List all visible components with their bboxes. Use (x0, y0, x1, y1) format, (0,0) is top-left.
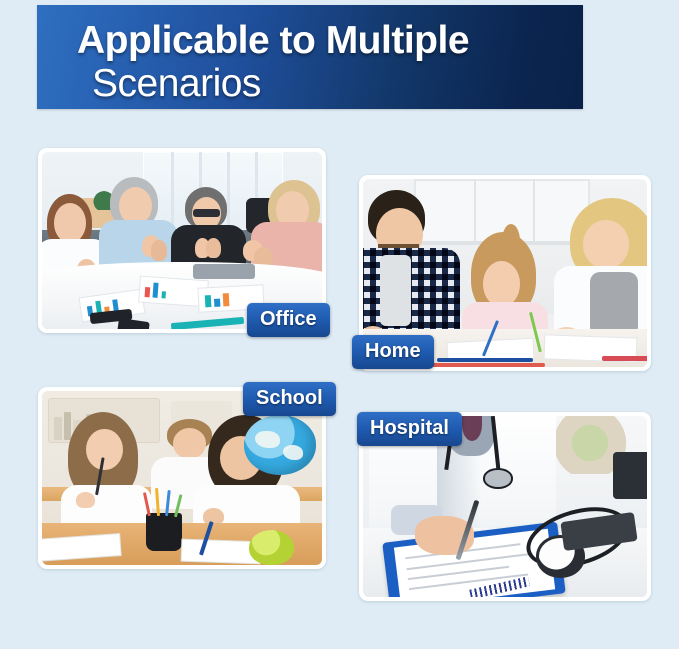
badge-hospital: Hospital (357, 412, 462, 446)
badge-home: Home (352, 335, 434, 369)
badge-office: Office (247, 303, 330, 337)
banner-title-line1: Applicable to Multiple (77, 19, 469, 63)
promo-image: Applicable to Multiple Scenarios (0, 0, 679, 649)
header-banner: Applicable to Multiple Scenarios (37, 5, 583, 109)
school-photo (42, 391, 322, 565)
badge-school: School (243, 382, 336, 416)
banner-title-line2: Scenarios (92, 62, 261, 106)
